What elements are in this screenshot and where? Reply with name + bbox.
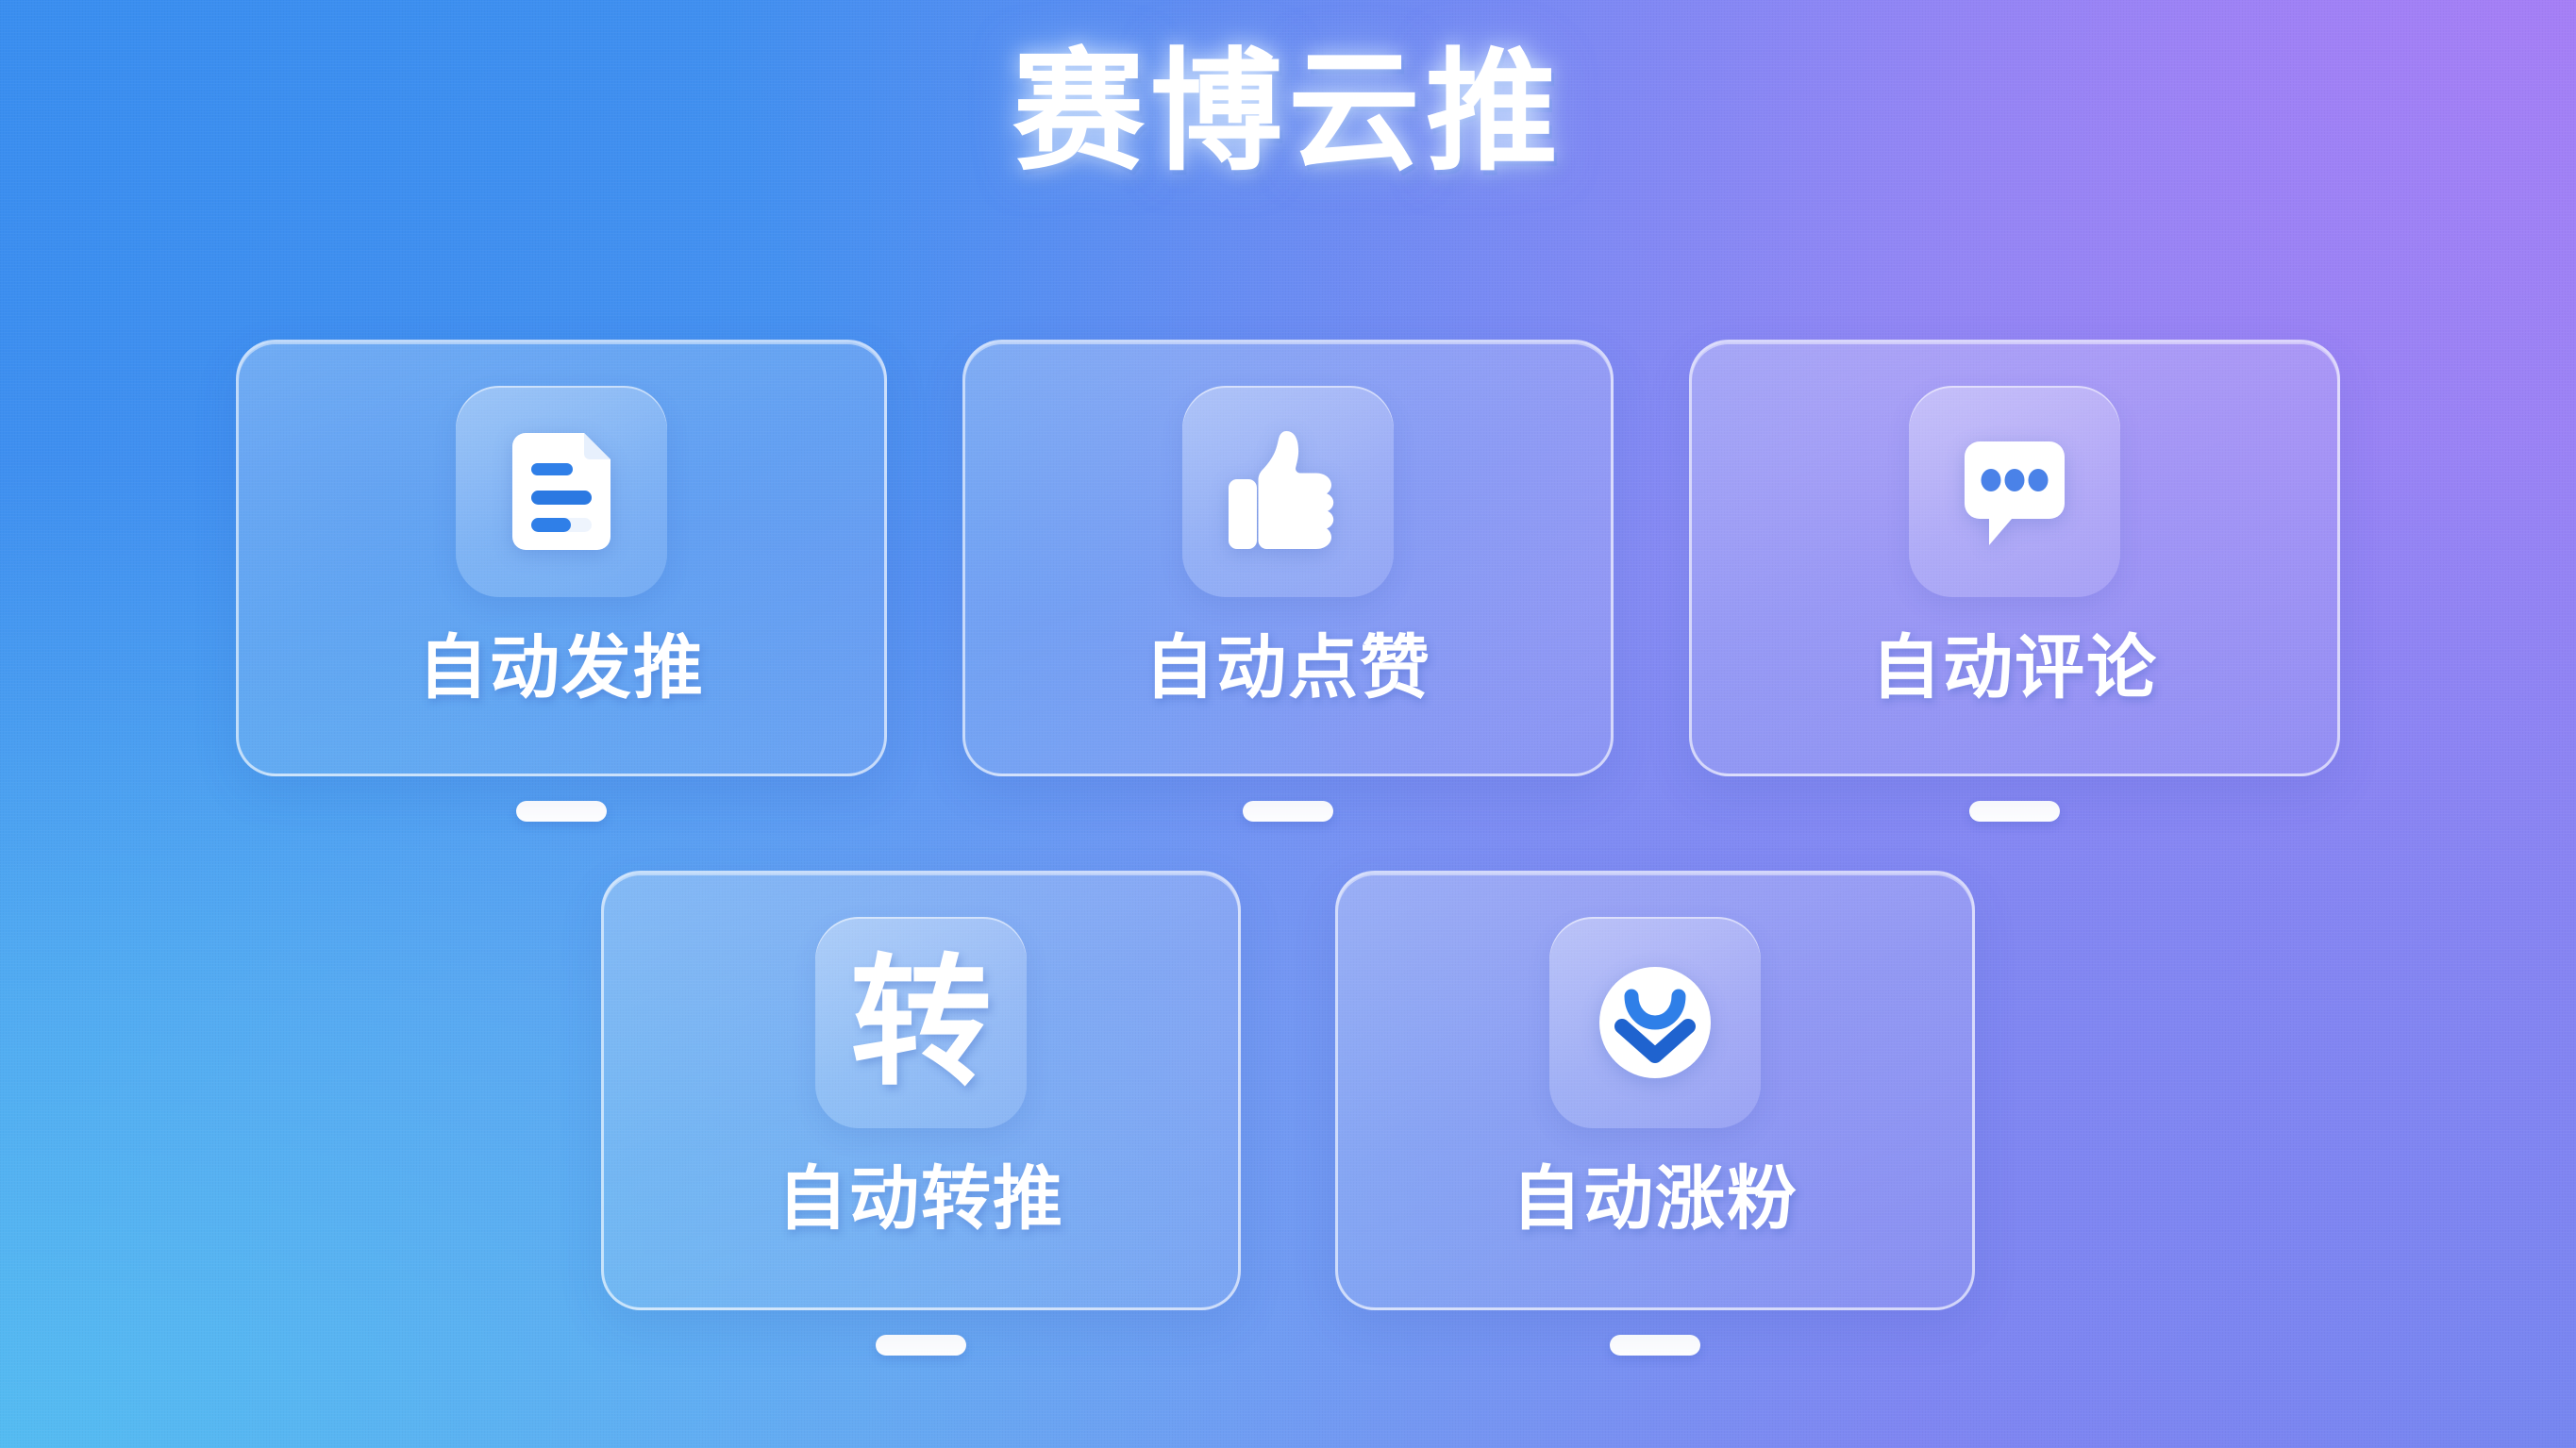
feature-card-grid: 自动发推 自动点赞 [0, 340, 2576, 1356]
feature-card-slot: 自动评论 [1689, 340, 2340, 822]
card-underline-indicator [516, 801, 607, 822]
thumbs-up-icon [1217, 421, 1359, 562]
feature-card-label: 自动转推 [778, 1160, 1064, 1237]
feature-card-auto-comment[interactable]: 自动评论 [1689, 340, 2340, 776]
feature-card-auto-post[interactable]: 自动发推 [236, 340, 887, 776]
card-underline-indicator [1610, 1335, 1700, 1356]
icon-tile [1909, 386, 2120, 597]
feature-card-label: 自动涨粉 [1512, 1160, 1798, 1237]
feature-card-label: 自动点赞 [1145, 629, 1431, 706]
feature-card-slot: 转 自动转推 [601, 871, 1241, 1356]
retweet-glyph-icon: 转 [850, 952, 992, 1093]
page-title-container: 赛博云推 [0, 32, 2576, 193]
follower-chevrons-icon [1584, 952, 1726, 1093]
feature-card-slot: 自动发推 [236, 340, 887, 822]
feature-card-auto-like[interactable]: 自动点赞 [962, 340, 1614, 776]
feature-card-auto-retweet[interactable]: 转 自动转推 [601, 871, 1241, 1310]
feature-card-auto-follow[interactable]: 自动涨粉 [1335, 871, 1975, 1310]
icon-tile [456, 386, 667, 597]
icon-tile [1549, 917, 1761, 1128]
feature-card-slot: 自动涨粉 [1335, 871, 1975, 1356]
card-underline-indicator [876, 1335, 966, 1356]
feature-row-2: 转 自动转推 [0, 871, 2576, 1356]
feature-row-1: 自动发推 自动点赞 [0, 340, 2576, 822]
document-post-icon [492, 422, 631, 561]
comment-bubble-icon [1946, 423, 2083, 560]
icon-tile [1182, 386, 1394, 597]
card-underline-indicator [1969, 801, 2060, 822]
feature-card-label: 自动发推 [418, 629, 705, 706]
card-underline-indicator [1243, 801, 1333, 822]
promo-poster: 赛博云推 [0, 0, 2576, 1448]
icon-tile: 转 [815, 917, 1027, 1128]
feature-card-slot: 自动点赞 [962, 340, 1614, 822]
page-title: 赛博云推 [1012, 32, 1564, 193]
feature-card-label: 自动评论 [1871, 629, 2158, 706]
